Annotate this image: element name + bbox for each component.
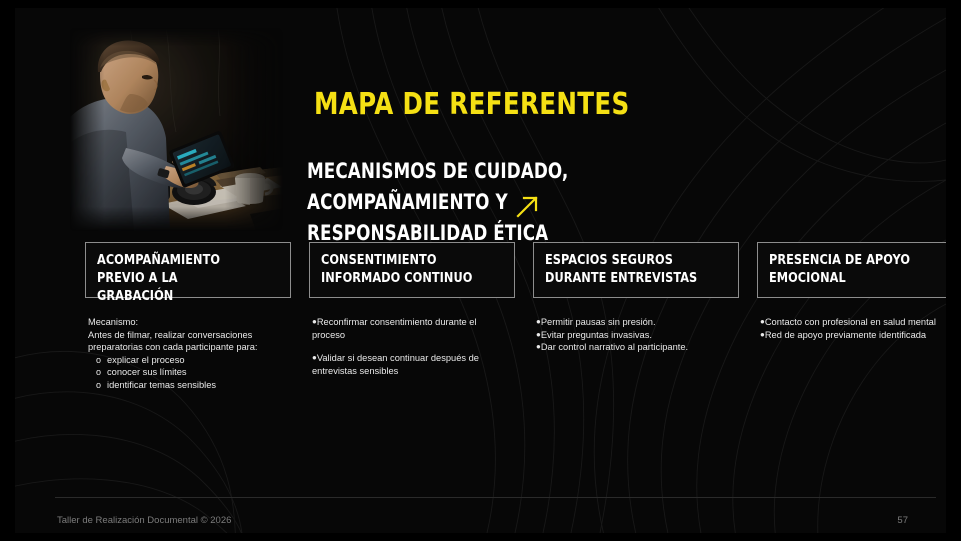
list-item: o conocer sus límites	[88, 366, 285, 379]
card-title: ACOMPAÑAMIENTO PREVIO A LA GRABACIÓN	[97, 251, 250, 305]
list-item: o explicar el proceso	[88, 354, 285, 367]
card-list: o explicar el proceso o conocer sus lími…	[88, 354, 285, 392]
list-marker-circle-icon: o	[96, 366, 101, 379]
card-presencia-apoyo-emocional: PRESENCIA DE APOYO EMOCIONAL ●Contacto c…	[757, 242, 946, 392]
hero-photo	[70, 28, 285, 231]
card-header: ACOMPAÑAMIENTO PREVIO A LA GRABACIÓN	[85, 242, 291, 298]
list-item-label: Red de apoyo previamente identificada	[765, 330, 926, 340]
card-list: ●Permitir pausas sin presión. ●Evitar pr…	[536, 316, 733, 354]
list-item: ●Reconfirmar consentimiento durante el p…	[312, 316, 509, 341]
page-title: MAPA DE REFERENTES	[314, 88, 630, 122]
card-title: ESPACIOS SEGUROS DURANTE ENTREVISTAS	[545, 251, 698, 287]
list-item-label: Contacto con profesional en salud mental	[765, 317, 936, 327]
card-espacios-seguros: ESPACIOS SEGUROS DURANTE ENTREVISTAS ●Pe…	[533, 242, 739, 392]
arrow-up-right-icon	[515, 194, 541, 220]
card-header: CONSENTIMIENTO INFORMADO CONTINUO	[309, 242, 515, 298]
card-list: ●Reconfirmar consentimiento durante el p…	[312, 316, 509, 377]
list-item: ●Validar si desean continuar después de …	[312, 352, 509, 377]
card-body: ●Reconfirmar consentimiento durante el p…	[309, 316, 515, 377]
list-item: ●Red de apoyo previamente identificada	[760, 329, 946, 342]
footer-divider	[55, 497, 936, 498]
list-marker-circle-icon: o	[96, 379, 101, 392]
card-title: PRESENCIA DE APOYO EMOCIONAL	[769, 251, 922, 287]
list-item: ●Dar control narrativo al participante.	[536, 341, 733, 354]
hero-photo-frame	[70, 28, 285, 231]
list-item: ●Contacto con profesional en salud menta…	[760, 316, 946, 329]
list-item-label: Validar si desean continuar después de e…	[312, 353, 479, 376]
list-item-label: explicar el proceso	[107, 354, 185, 367]
card-body: Mecanismo: Antes de filmar, realizar con…	[85, 316, 291, 392]
list-item-label: Reconfirmar consentimiento durante el pr…	[312, 317, 477, 340]
list-marker-circle-icon: o	[96, 354, 101, 367]
card-header: PRESENCIA DE APOYO EMOCIONAL	[757, 242, 946, 298]
list-item-label: Permitir pausas sin presión.	[541, 317, 656, 327]
page-number: 57	[897, 515, 908, 526]
card-lead-text: Mecanismo: Antes de filmar, realizar con…	[88, 316, 285, 354]
card-consentimiento-informado: CONSENTIMIENTO INFORMADO CONTINUO ●Recon…	[309, 242, 515, 392]
card-list: ●Contacto con profesional en salud menta…	[760, 316, 946, 341]
card-body: ●Permitir pausas sin presión. ●Evitar pr…	[533, 316, 739, 354]
list-item: ●Evitar preguntas invasivas.	[536, 329, 733, 342]
list-item-label: Evitar preguntas invasivas.	[541, 330, 652, 340]
footer-copyright: Taller de Realización Documental © 2026	[57, 515, 231, 526]
list-item: ●Permitir pausas sin presión.	[536, 316, 733, 329]
slide-content-area: MAPA DE REFERENTES MECANISMOS DE CUIDADO…	[15, 8, 946, 533]
list-item-label: conocer sus límites	[107, 366, 187, 379]
card-title: CONSENTIMIENTO INFORMADO CONTINUO	[321, 251, 474, 287]
card-acompanamiento-previo: ACOMPAÑAMIENTO PREVIO A LA GRABACIÓN Mec…	[85, 242, 291, 392]
page-subtitle: MECANISMOS DE CUIDADO, ACOMPAÑAMIENTO Y …	[307, 156, 683, 249]
card-header: ESPACIOS SEGUROS DURANTE ENTREVISTAS	[533, 242, 739, 298]
card-grid: ACOMPAÑAMIENTO PREVIO A LA GRABACIÓN Mec…	[85, 242, 945, 392]
slide: MAPA DE REFERENTES MECANISMOS DE CUIDADO…	[0, 0, 961, 541]
list-item-label: Dar control narrativo al participante.	[541, 342, 688, 352]
list-item: o identificar temas sensibles	[88, 379, 285, 392]
list-item-label: identificar temas sensibles	[107, 379, 216, 392]
card-body: ●Contacto con profesional en salud menta…	[757, 316, 946, 341]
